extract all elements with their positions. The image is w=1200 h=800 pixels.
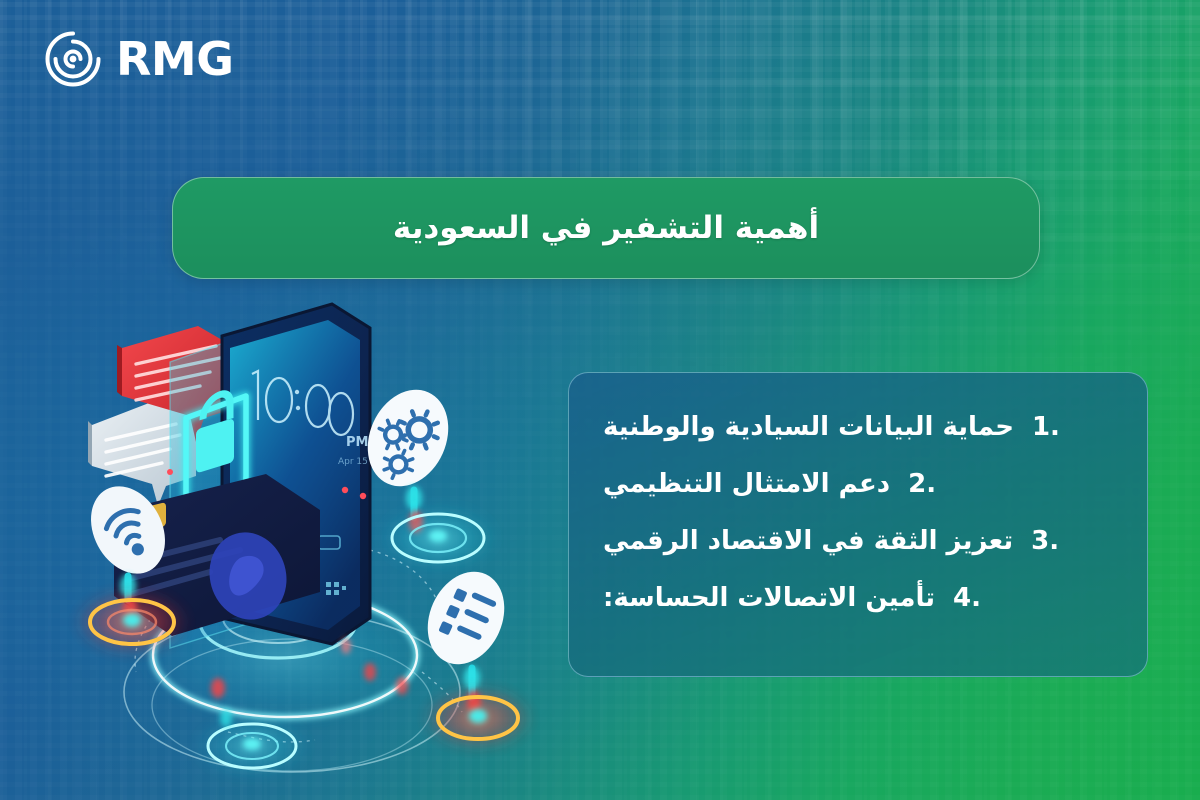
title-banner: أهمية التشفير في السعودية xyxy=(172,177,1040,279)
glow-ring-red-right xyxy=(422,685,534,751)
list-item: 3. تعزيز الثقة في الاقتصاد الرقمي xyxy=(603,513,1059,570)
svg-text:PM: PM xyxy=(346,435,368,450)
list-item: 2. دعم الامتثال التنظيمي xyxy=(603,456,936,513)
page-title: أهمية التشفير في السعودية xyxy=(393,208,819,248)
list-item-label: تأمين الاتصالات الحساسة: xyxy=(603,570,935,627)
brand-wordmark: RMG xyxy=(116,36,233,82)
list-item: 4. تأمين الاتصالات الحساسة: xyxy=(603,570,981,627)
list-item-number: 1. xyxy=(1030,399,1060,456)
spiral-circle-logo-icon xyxy=(44,30,102,88)
glow-ring-cyan-right xyxy=(378,504,498,572)
glow-ring-cyan-bottom xyxy=(194,714,310,778)
list-item-label: حماية البيانات السيادية والوطنية xyxy=(603,399,1014,456)
list-item: 1. حماية البيانات السيادية والوطنية xyxy=(603,399,1060,456)
list-item-label: دعم الامتثال التنظيمي xyxy=(603,456,890,513)
glow-ring-red-left xyxy=(74,588,190,656)
list-item-label: تعزيز الثقة في الاقتصاد الرقمي xyxy=(603,513,1013,570)
brand-logo: RMG xyxy=(44,30,233,88)
svg-text:Apr 15: Apr 15 xyxy=(338,457,368,467)
benefits-list: 1. حماية البيانات السيادية والوطنية 2. د… xyxy=(603,399,1113,627)
list-item-number: 4. xyxy=(951,570,981,627)
list-item-number: 3. xyxy=(1029,513,1059,570)
isometric-cyber-security-illustration: PM Apr 15 xyxy=(70,300,540,780)
benefits-card: 1. حماية البيانات السيادية والوطنية 2. د… xyxy=(568,372,1148,677)
list-item-number: 2. xyxy=(906,456,936,513)
infographic-canvas: RMG أهمية التشفير في السعودية 1. حماية ا… xyxy=(0,0,1200,800)
